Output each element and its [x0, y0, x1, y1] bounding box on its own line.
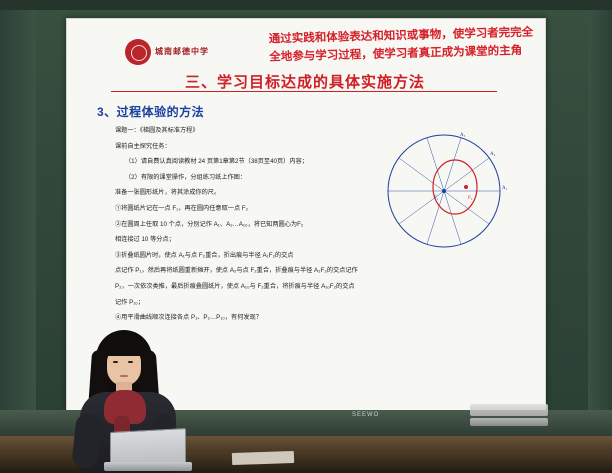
- body-line: （1）请自费认真阅读教材 24 页第1章第2节（38页至40页）内容；: [115, 156, 359, 168]
- body-line: ③折叠纸圆片时，使点 A₁与点 F₂重合，折出痕与半径 A₁F₂的交点: [115, 250, 359, 262]
- board-left-panel: [0, 10, 36, 422]
- school-name: 城南邮德中学: [155, 47, 209, 57]
- teacher-mouth: [120, 375, 128, 377]
- body-line: P₂，一次依次类推，最后折痕叠圆纸片，使点 A₁₀与 F₂重合，将折痕与半径 A…: [115, 281, 359, 293]
- svg-text:A₂: A₂: [490, 152, 496, 157]
- slide-header-red-text: 通过实践和体验表达和知识或事物，使学习者完完全全地参与学习过程，使学习者真正成为…: [269, 23, 538, 66]
- board-top-frame: [0, 0, 612, 10]
- svg-text:A₃: A₃: [460, 133, 466, 138]
- body-line: 课题一：《梯圆及其标准方程》: [115, 125, 359, 137]
- body-line: ①将圆纸片记在一点 F₁，再在圆内任意取一点 F₂: [115, 203, 359, 215]
- body-line: ④用平滑曲线顺次连接各点 P₁、P₂…P₁₀，有何发现？: [115, 312, 359, 324]
- school-logo: 城南邮德中学: [125, 31, 237, 73]
- laptop-base: [104, 462, 192, 471]
- body-line: 课前自主探究任务：: [115, 141, 359, 153]
- slide-body: 课题一：《梯圆及其标准方程》 课前自主探究任务： （1）请自费认真阅读教材 24…: [115, 125, 359, 328]
- body-line: 点记作 P₁，然后再将纸圆重新摊开，使点 A₂与点 F₂重合，折叠痕与半径 A₂…: [115, 265, 359, 277]
- slide-section-title: 3、过程体验的方法: [97, 103, 204, 120]
- body-line: 记作 P₁₀；: [115, 297, 359, 309]
- school-seal-icon: [125, 39, 151, 65]
- title-underline: [111, 91, 497, 92]
- svg-text:F₁: F₁: [434, 196, 439, 201]
- slide-title: 三、学习目标达成的具体实施方法: [103, 71, 507, 92]
- board-brand-label: SEEWO: [352, 412, 379, 418]
- classroom-photo: 城南邮德中学 通过实践和体验表达和知识或事物，使学习者完完全全地参与学习过程，使…: [0, 0, 612, 473]
- body-line: 相连接过 10 等分点；: [115, 234, 359, 246]
- teacher-bangs: [103, 338, 147, 356]
- desk-book: [232, 451, 294, 465]
- svg-text:A₁: A₁: [502, 186, 508, 191]
- body-line: ②在圆周上任取 10 个点，分别记作 A₁、A₂…A₁₀，将已知两圆心为F₂: [115, 219, 359, 231]
- chalk-tray-lower: [470, 418, 548, 426]
- body-line: （2）有限的课堂操作，分组练习纸上作图：: [115, 172, 359, 184]
- svg-text:F₂: F₂: [468, 196, 473, 201]
- body-line: 准备一张圆形纸片，将其涂成你的尺。: [115, 187, 359, 199]
- ellipse-folding-construction-diagram: A₁ A₂ A₃ F₁ F₂: [359, 129, 529, 259]
- board-right-panel: [588, 10, 612, 422]
- teacher-eye-left: [113, 361, 118, 363]
- teacher-eye-right: [128, 361, 133, 363]
- chalk-tray: [470, 404, 548, 416]
